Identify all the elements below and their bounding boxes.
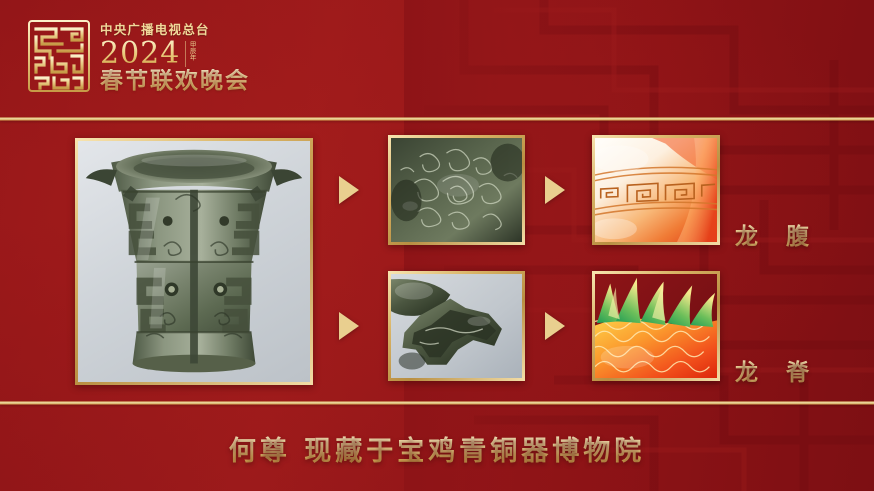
gala-title: 春节联欢晚会 [100, 69, 350, 93]
gala-year: 2024 [100, 40, 180, 68]
gala-slide-root: 中央广播电视总台 2024 甲辰年 春节联欢晚会 [0, 0, 874, 491]
dragon-spine-illustration[interactable] [592, 271, 720, 381]
arrow-right-icon [339, 176, 359, 204]
arrow-right-icon [545, 312, 565, 340]
content-area: 龙 腹 龙 脊 [0, 121, 874, 401]
year-row: 2024 甲辰年 [100, 40, 350, 68]
logo-wordmark: 中央广播电视总台 2024 甲辰年 春节联欢晚会 [100, 24, 350, 93]
detail-photo-content [391, 138, 522, 242]
dragon-spine-detail-photo[interactable] [388, 271, 525, 381]
artifact-caption: 何尊 现藏于宝鸡青铜器博物院 [229, 429, 645, 468]
dragon-spine-label: 龙 脊 [735, 353, 819, 387]
dragon-belly-label: 龙 腹 [735, 217, 819, 251]
gala-seal-logo-icon [28, 20, 90, 92]
caption-bar: 何尊 现藏于宝鸡青铜器博物院 [0, 405, 874, 491]
arrow-right-icon [339, 312, 359, 340]
dragon-belly-detail-photo[interactable] [388, 135, 525, 245]
arrow-right-icon [545, 176, 565, 204]
detail-photo-content [391, 274, 522, 378]
he-zun-bronze-vessel-photo[interactable] [75, 138, 313, 385]
header: 中央广播电视总台 2024 甲辰年 春节联欢晚会 [0, 0, 460, 117]
dragon-belly-illustration[interactable] [592, 135, 720, 245]
broadcaster-name: 中央广播电视总台 [100, 24, 350, 37]
lunar-year-label: 甲辰年 [185, 41, 195, 67]
